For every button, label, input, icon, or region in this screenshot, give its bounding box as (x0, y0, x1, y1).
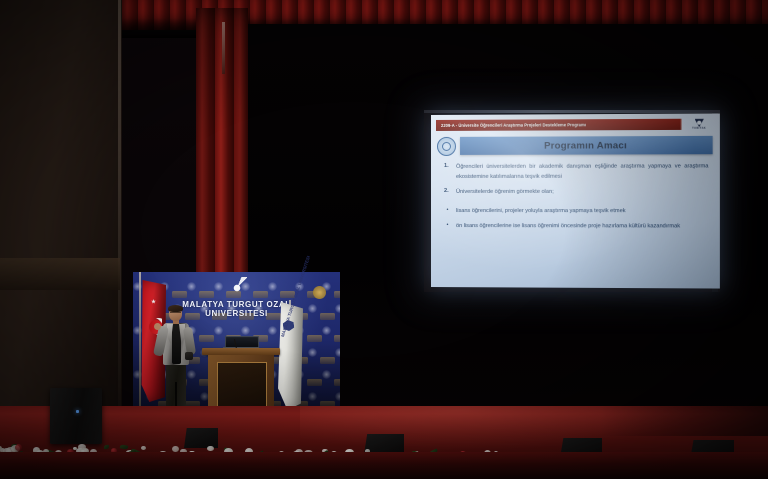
slide-list-text: Öğrencileri üniversitelerden bir akademi… (456, 162, 708, 182)
slide-header-band: 2209-A - Üniversite Öğrencileri Araştırm… (436, 119, 682, 131)
slide-list-text: Üniversitelerde öğrenim görmekte olan; (456, 188, 554, 198)
wall-floor-edge (0, 258, 120, 290)
slide-body: 1.Öğrencileri üniversitelerden bir akade… (444, 162, 708, 237)
foliage-leaf (104, 445, 109, 450)
white-flower (141, 446, 146, 450)
presentation-slide: 2209-A - Üniversite Öğrencileri Araştırm… (431, 113, 720, 288)
slide-header-text: 2209-A - Üniversite Öğrencileri Araştırm… (441, 122, 586, 128)
wall-seam (118, 0, 121, 420)
tubitak-logo-text: TUBITAK (692, 128, 706, 130)
slide-title-row: Programın Amacı (437, 135, 713, 156)
slide-list-text: lisans öğrencilerini, projeler yoluyla a… (456, 207, 626, 217)
screen-top-edge (424, 110, 720, 113)
slide-list-item: •ön lisans öğrencilerine ise lisans öğre… (444, 222, 708, 232)
stage-floor-shadow (600, 406, 768, 436)
vertical-light-strip (222, 22, 225, 74)
list-bullet-icon: • (444, 222, 451, 232)
presenter-hand-left (154, 323, 161, 330)
list-bullet-icon: • (444, 207, 451, 217)
presenter-held-device (185, 352, 193, 360)
list-number: 2. (444, 188, 451, 198)
stage-photograph: 2209-A - Üniversite Öğrencileri Araştırm… (0, 0, 768, 479)
stage-front-lip (0, 452, 768, 479)
tubitak-mark-icon (695, 119, 704, 127)
slide-title-bar: Programın Amacı (460, 136, 713, 155)
slide-list-text: ön lisans öğrencilerine ise lisans öğren… (456, 222, 680, 232)
slide-header: 2209-A - Üniversite Öğrencileri Araştırm… (436, 119, 715, 131)
tubitak-logo: TUBITAK (684, 118, 715, 131)
slide-list-item: •lisans öğrencilerini, projeler yoluyla … (444, 207, 708, 217)
white-flower (78, 444, 85, 450)
slide-title: Programın Amacı (544, 140, 627, 151)
program-emblem-icon (437, 136, 456, 155)
list-number: 1. (444, 163, 451, 182)
turkish-flag-pole (139, 272, 141, 412)
presenter-shirt (172, 324, 181, 364)
slide-list-item: 2.Üniversitelerde öğrenim görmekte olan; (444, 187, 708, 197)
pa-power-led (76, 410, 79, 413)
glasses-icon (170, 312, 181, 316)
white-flower (207, 446, 214, 451)
left-wall-panel (0, 0, 122, 420)
podium-top (202, 348, 280, 355)
slide-list-item: 1.Öğrencileri üniversitelerden bir akade… (444, 162, 708, 182)
